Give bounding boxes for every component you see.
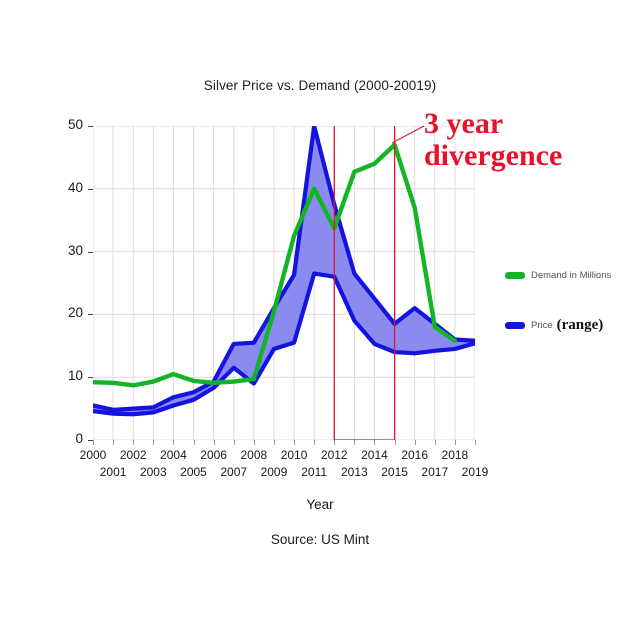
x-tick-label: 2011 bbox=[294, 465, 334, 479]
x-tick-label: 2009 bbox=[254, 465, 294, 479]
x-tick-mark bbox=[274, 440, 275, 445]
x-axis-title: Year bbox=[0, 497, 640, 512]
x-tick-mark bbox=[395, 440, 396, 445]
legend-label-demand: Demand in Millions bbox=[531, 270, 611, 281]
annotation-line-1: 3 year bbox=[424, 108, 640, 140]
y-tick-label: 40 bbox=[43, 180, 83, 195]
x-tick-label: 2019 bbox=[455, 465, 495, 479]
x-tick-label: 2018 bbox=[435, 448, 475, 462]
x-tick-mark bbox=[254, 440, 255, 445]
legend-item-price: Price (range) bbox=[505, 318, 640, 332]
x-tick-mark bbox=[475, 440, 476, 445]
x-tick-label: 2007 bbox=[214, 465, 254, 479]
x-tick-label: 2013 bbox=[334, 465, 374, 479]
x-tick-mark bbox=[113, 440, 114, 445]
x-tick-mark bbox=[354, 440, 355, 445]
x-tick-label: 2012 bbox=[314, 448, 354, 462]
y-tick-label: 0 bbox=[43, 431, 83, 446]
x-tick-mark bbox=[214, 440, 215, 445]
source-caption: Source: US Mint bbox=[0, 532, 640, 547]
x-tick-mark bbox=[173, 440, 174, 445]
x-tick-label: 2003 bbox=[133, 465, 173, 479]
chart-canvas: Silver Price vs. Demand (2000-20019) Sil… bbox=[0, 0, 640, 640]
x-tick-mark bbox=[334, 440, 335, 445]
x-tick-mark bbox=[415, 440, 416, 445]
x-tick-label: 2015 bbox=[375, 465, 415, 479]
x-tick-label: 2005 bbox=[174, 465, 214, 479]
chart-legend: Demand in Millions Price (range) bbox=[505, 268, 640, 368]
legend-label-price-range: (range) bbox=[557, 317, 604, 334]
x-tick-label: 2006 bbox=[194, 448, 234, 462]
annotation-line-2: divergence bbox=[424, 140, 640, 172]
y-tick-label: 20 bbox=[43, 305, 83, 320]
x-tick-mark bbox=[153, 440, 154, 445]
x-tick-label: 2004 bbox=[153, 448, 193, 462]
legend-swatch-demand bbox=[505, 272, 525, 279]
x-tick-mark bbox=[314, 440, 315, 445]
legend-item-demand: Demand in Millions bbox=[505, 268, 640, 282]
x-tick-label: 2014 bbox=[354, 448, 394, 462]
x-tick-label: 2008 bbox=[234, 448, 274, 462]
x-tick-mark bbox=[294, 440, 295, 445]
x-tick-mark bbox=[93, 440, 94, 445]
x-tick-label: 2010 bbox=[274, 448, 314, 462]
legend-swatch-price bbox=[505, 322, 525, 329]
x-tick-label: 2016 bbox=[395, 448, 435, 462]
y-tick-label: 10 bbox=[43, 368, 83, 383]
y-tick-label: 50 bbox=[43, 117, 83, 132]
x-tick-label: 2002 bbox=[113, 448, 153, 462]
x-tick-label: 2017 bbox=[415, 465, 455, 479]
divergence-annotation: 3 year divergence bbox=[424, 108, 640, 173]
x-tick-mark bbox=[435, 440, 436, 445]
x-tick-mark bbox=[374, 440, 375, 445]
plot-area bbox=[93, 126, 475, 440]
y-tick-label: 30 bbox=[43, 243, 83, 258]
x-tick-mark bbox=[234, 440, 235, 445]
x-tick-mark bbox=[194, 440, 195, 445]
x-tick-mark bbox=[455, 440, 456, 445]
x-tick-label: 2001 bbox=[93, 465, 133, 479]
legend-label-price: Price bbox=[531, 320, 553, 331]
x-tick-mark bbox=[133, 440, 134, 445]
gridlines bbox=[93, 126, 475, 440]
x-tick-label: 2000 bbox=[73, 448, 113, 462]
